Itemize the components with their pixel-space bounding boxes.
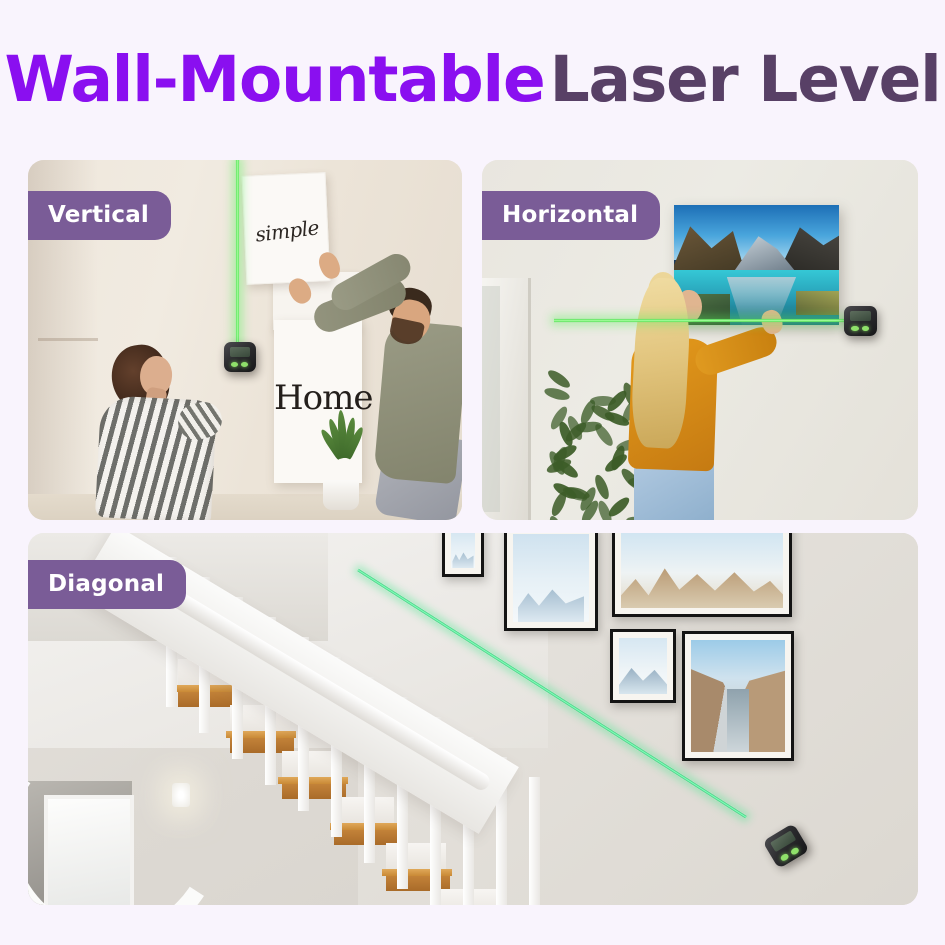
panel-badge-diagonal: Diagonal — [28, 560, 186, 609]
frame-artwork — [691, 640, 785, 752]
plant-leaf — [592, 422, 616, 449]
canvas-simple: simple — [242, 172, 331, 285]
panel-badge-vertical: Vertical — [28, 191, 171, 240]
frame-artwork — [451, 533, 475, 568]
laser-level-device-icon[interactable] — [224, 342, 256, 372]
picture-frame-1 — [442, 533, 484, 577]
wall-trim-line — [38, 338, 98, 341]
frame-artwork — [619, 638, 667, 694]
device-led-right — [241, 362, 248, 367]
panel-badge-horizontal: Horizontal — [482, 191, 660, 240]
device-screen — [850, 311, 871, 321]
device-screen — [230, 347, 250, 357]
panel-vertical[interactable]: Home simple Vertical — [28, 160, 462, 520]
plant-leaf — [606, 494, 632, 519]
frame-artwork — [513, 534, 589, 622]
frame-mat — [507, 533, 595, 628]
picture-frame-4 — [610, 629, 676, 703]
laser-beam-icon — [554, 318, 848, 323]
frame-mat — [685, 634, 791, 758]
plant-leaf — [547, 514, 567, 520]
device-led-left — [780, 853, 789, 861]
man-shirt — [373, 320, 462, 485]
laser-level-device-icon[interactable] — [844, 306, 877, 336]
device-led-left — [231, 362, 238, 367]
door-opening — [482, 286, 500, 512]
picture-frame-5 — [682, 631, 794, 761]
canvas-shore-right — [796, 291, 839, 315]
title-muted-text: Laser Level — [550, 43, 941, 116]
frame-mat — [445, 533, 481, 574]
title-accent-text: Wall-Mountable — [4, 43, 544, 116]
laser-beam-icon — [235, 160, 240, 348]
picture-frame-2 — [504, 533, 598, 631]
panel-diagonal[interactable]: Diagonal — [28, 533, 918, 905]
plant-leaf — [549, 490, 569, 518]
frame-mat — [613, 632, 673, 700]
frame-mat — [615, 533, 789, 614]
picture-frame-3 — [612, 533, 792, 617]
device-led-right — [790, 847, 799, 855]
potted-plant-leaves — [324, 436, 360, 486]
canvas-simple-text: simple — [250, 215, 324, 247]
canvas-home-text: Home — [274, 378, 362, 418]
page-title: Wall-Mountable Laser Level — [0, 48, 945, 111]
panel-horizontal[interactable]: Horizontal — [482, 160, 918, 520]
device-led-right — [862, 326, 869, 331]
plant-pot — [323, 480, 359, 510]
frame-artwork — [621, 533, 783, 608]
device-led-left — [851, 326, 858, 331]
staircase-baluster — [529, 777, 540, 905]
